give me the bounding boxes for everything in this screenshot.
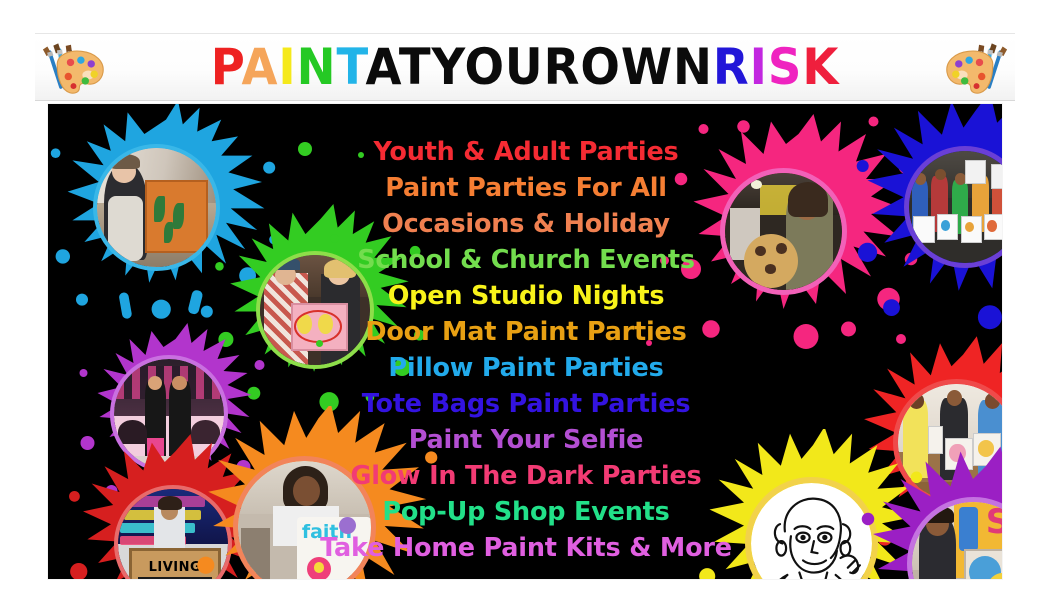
service-item: Paint Parties For All bbox=[296, 170, 756, 206]
service-item: Glow In The Dark Parties bbox=[296, 458, 756, 494]
flyer-canvas: PAINTATYOUROWNRISK bbox=[0, 0, 1050, 600]
photo-two-women-at-event bbox=[110, 355, 228, 473]
flyer-body-panel: LIVING My Blessed Life bbox=[47, 103, 1003, 580]
service-item: Take Home Paint Kits & More bbox=[296, 530, 756, 566]
paint-palette-brushes-icon bbox=[35, 38, 109, 96]
photo-kids-group-paintings bbox=[904, 146, 1003, 268]
service-item: Paint Your Selfie bbox=[296, 422, 756, 458]
doormat-caption-living: LIVING bbox=[149, 561, 202, 574]
services-list: Youth & Adult Parties Paint Parties For … bbox=[296, 134, 756, 566]
photo-woman-with-canvas bbox=[93, 144, 220, 271]
photo-teens-with-canvases bbox=[893, 379, 1003, 506]
photo-doormat-living: LIVING My Blessed Life bbox=[114, 485, 232, 580]
photo-woman-holding-canvas: S bbox=[907, 497, 1003, 580]
paint-palette-brushes-icon bbox=[941, 38, 1015, 96]
service-item: School & Church Events bbox=[296, 242, 756, 278]
service-item: Door Mat Paint Parties bbox=[296, 314, 756, 350]
service-item: Open Studio Nights bbox=[296, 278, 756, 314]
service-item: Pop-Up Shop Events bbox=[296, 494, 756, 530]
service-item: Youth & Adult Parties bbox=[296, 134, 756, 170]
doormat-caption-subtitle: My Blessed Life bbox=[138, 577, 212, 580]
photo-line-art-portrait bbox=[745, 477, 878, 580]
service-item: Tote Bags Paint Parties bbox=[296, 386, 756, 422]
page-title: PAINTATYOUROWNRISK bbox=[138, 40, 912, 94]
service-item: Pillow Paint Parties bbox=[296, 350, 756, 386]
service-item: Occasions & Holiday bbox=[296, 206, 756, 242]
header-banner: PAINTATYOUROWNRISK bbox=[35, 33, 1015, 101]
